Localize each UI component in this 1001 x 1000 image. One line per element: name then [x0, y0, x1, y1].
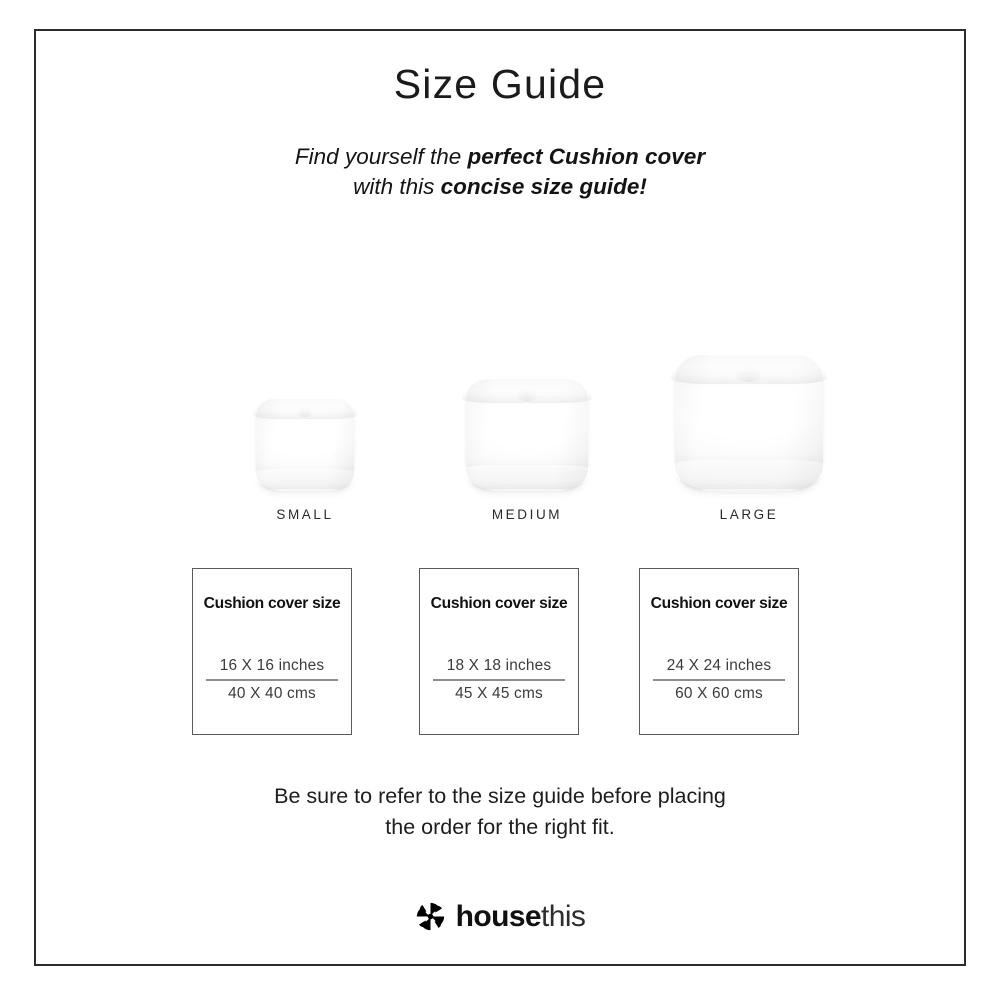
footer-note: Be sure to refer to the size guide befor…	[36, 781, 964, 843]
page-title: Size Guide	[36, 61, 964, 108]
cushion-icon-medium	[466, 379, 588, 489]
size-box-heading-medium: Cushion cover size	[420, 595, 578, 613]
size-label-small: SMALL	[195, 507, 415, 522]
size-box-heading-large: Cushion cover size	[640, 595, 798, 613]
cushion-seam-large	[731, 360, 767, 381]
measurement-inches-large: 24 X 24 inches	[649, 655, 789, 677]
page-subtitle: Find yourself the perfect Cushion cover …	[36, 142, 964, 202]
size-box-medium: Cushion cover size 18 X 18 inches 45 X 4…	[419, 568, 579, 735]
subtitle-line-2-normal: with this	[353, 174, 441, 199]
size-box-large: Cushion cover size 24 X 24 inches 60 X 6…	[639, 568, 799, 735]
measurement-inches-small: 16 X 16 inches	[202, 655, 342, 677]
size-detail-row: Cushion cover size 16 X 16 inches 40 X 4…	[36, 568, 964, 743]
cushion-stage-large	[639, 321, 859, 501]
cushion-illustration-row: SMALL MEDIUM LARGE	[36, 321, 964, 581]
cushion-seam-medium	[512, 383, 541, 401]
brand-name-secondary: this	[541, 900, 585, 933]
cushion-column-small: SMALL	[195, 321, 415, 522]
brand-logo-text: housethis	[456, 902, 586, 932]
size-label-medium: MEDIUM	[417, 507, 637, 522]
cushion-column-large: LARGE	[639, 321, 859, 522]
size-measurements-small: 16 X 16 inches 40 X 40 cms	[202, 655, 342, 705]
footer-note-line-2: the order for the right fit.	[36, 812, 964, 843]
cushion-stage-medium	[417, 321, 637, 501]
subtitle-line-2: with this concise size guide!	[36, 172, 964, 202]
brand-logo: housethis	[36, 901, 964, 932]
cushion-stage-small	[195, 321, 415, 501]
measurement-divider-large	[653, 679, 785, 681]
subtitle-line-2-emphasis: concise size guide!	[441, 174, 647, 199]
measurement-cms-medium: 45 X 45 cms	[429, 683, 569, 705]
size-measurements-medium: 18 X 18 inches 45 X 45 cms	[429, 655, 569, 705]
size-box-heading-small: Cushion cover size	[193, 595, 351, 613]
brand-name-primary: house	[456, 900, 541, 933]
cushion-seam-small	[293, 403, 317, 417]
size-label-large: LARGE	[639, 507, 859, 522]
size-measurements-large: 24 X 24 inches 60 X 60 cms	[649, 655, 789, 705]
measurement-inches-medium: 18 X 18 inches	[429, 655, 569, 677]
size-guide-page: Size Guide Find yourself the perfect Cus…	[0, 0, 1001, 1000]
subtitle-line-1: Find yourself the perfect Cushion cover	[36, 142, 964, 172]
measurement-cms-large: 60 X 60 cms	[649, 683, 789, 705]
housethis-pinwheel-logo-icon	[415, 901, 446, 932]
content-frame: Size Guide Find yourself the perfect Cus…	[34, 29, 966, 966]
footer-note-line-1: Be sure to refer to the size guide befor…	[36, 781, 964, 812]
cushion-column-medium: MEDIUM	[417, 321, 637, 522]
measurement-divider-medium	[433, 679, 565, 681]
size-box-small: Cushion cover size 16 X 16 inches 40 X 4…	[192, 568, 352, 735]
cushion-icon-small	[256, 399, 354, 489]
cushion-icon-large	[675, 355, 823, 489]
subtitle-line-1-emphasis: perfect Cushion cover	[468, 144, 706, 169]
measurement-divider-small	[206, 679, 338, 681]
measurement-cms-small: 40 X 40 cms	[202, 683, 342, 705]
subtitle-line-1-normal: Find yourself the	[295, 144, 468, 169]
